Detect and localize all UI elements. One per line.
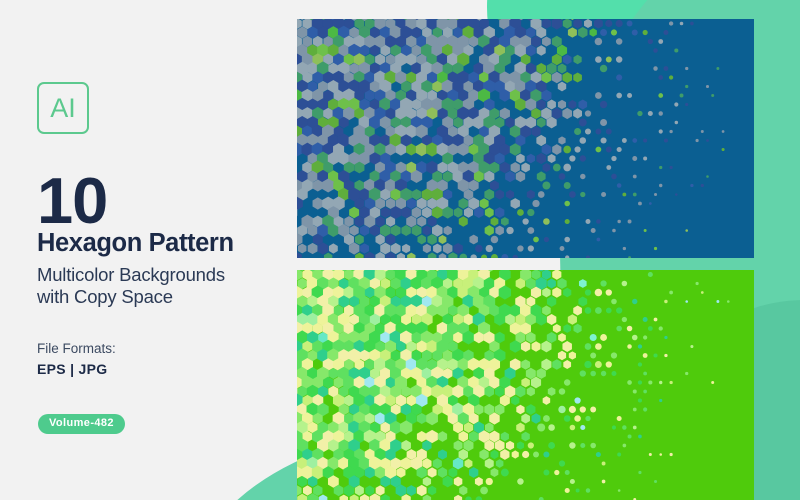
subtitle-line-1: Multicolor Backgrounds xyxy=(37,264,225,286)
info-column: AI 10 Hexagon Pattern Multicolor Backgro… xyxy=(37,0,292,500)
page-subtitle: Multicolor Backgrounds with Copy Space xyxy=(37,264,225,307)
green-hexagon-pattern-canvas xyxy=(297,270,754,500)
page-title: Hexagon Pattern xyxy=(37,231,234,257)
preview-panel-blue xyxy=(297,19,754,258)
preview-panel-green xyxy=(297,270,754,500)
blue-hexagon-pattern-canvas xyxy=(297,19,754,258)
file-formats-label: File Formats: xyxy=(37,342,116,356)
volume-badge: Volume-482 xyxy=(38,414,125,434)
subtitle-line-2: with Copy Space xyxy=(37,286,225,308)
poster-canvas: AI 10 Hexagon Pattern Multicolor Backgro… xyxy=(0,0,800,500)
file-formats-value: EPS | JPG xyxy=(37,362,107,376)
adobe-illustrator-badge: AI xyxy=(37,82,89,134)
item-count: 10 xyxy=(37,168,107,233)
ai-badge-label: AI xyxy=(50,95,76,122)
